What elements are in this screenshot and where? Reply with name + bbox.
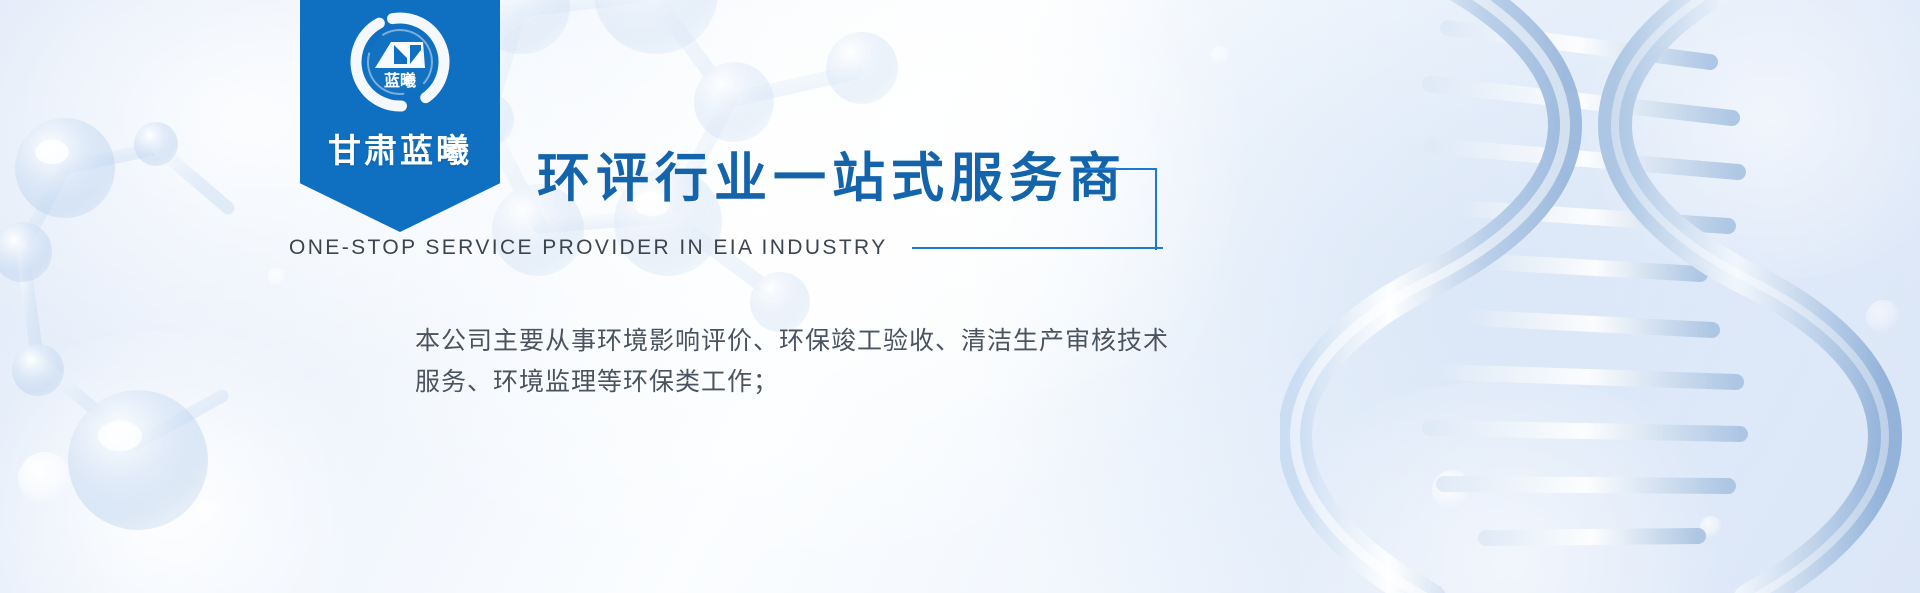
company-badge: 蓝曦 甘肃蓝曦 <box>300 0 500 232</box>
bokeh-light-icon <box>1432 470 1472 510</box>
logo-mark-text: 蓝曦 <box>384 71 416 90</box>
light-glow <box>1250 380 1770 593</box>
description-text: 本公司主要从事环境影响评价、环保竣工验收、清洁生产审核技术 服务、环境监理等环保… <box>415 320 1169 402</box>
dna-helix-icon <box>1280 0 1920 593</box>
lanxi-emblem-icon: 蓝曦 <box>345 12 455 116</box>
bokeh-light-icon <box>268 268 286 286</box>
bokeh-light-icon <box>1866 300 1900 334</box>
description-line: 本公司主要从事环境影响评价、环保竣工验收、清洁生产审核技术 <box>415 320 1169 361</box>
bokeh-light-icon <box>196 500 222 526</box>
description-line: 服务、环境监理等环保类工作； <box>415 361 1169 402</box>
page-title: 环评行业一站式服务商 <box>537 136 1127 212</box>
bokeh-light-icon <box>1700 516 1722 538</box>
light-glow <box>0 330 400 593</box>
bokeh-light-icon <box>18 452 72 506</box>
hero-banner: 蓝曦 甘肃蓝曦 环评行业一站式服务商 ONE-STOP SERVICE PROV… <box>0 0 1920 593</box>
subtitle-english: ONE-STOP SERVICE PROVIDER IN EIA INDUSTR… <box>289 236 888 260</box>
company-short-name: 甘肃蓝曦 <box>300 124 500 172</box>
subtitle-rule <box>912 247 1163 249</box>
bokeh-light-icon <box>1210 46 1230 66</box>
subtitle-row: ONE-STOP SERVICE PROVIDER IN EIA INDUSTR… <box>289 236 1163 260</box>
light-glow <box>1560 0 1920 280</box>
bracket-top-rule <box>1085 168 1157 170</box>
